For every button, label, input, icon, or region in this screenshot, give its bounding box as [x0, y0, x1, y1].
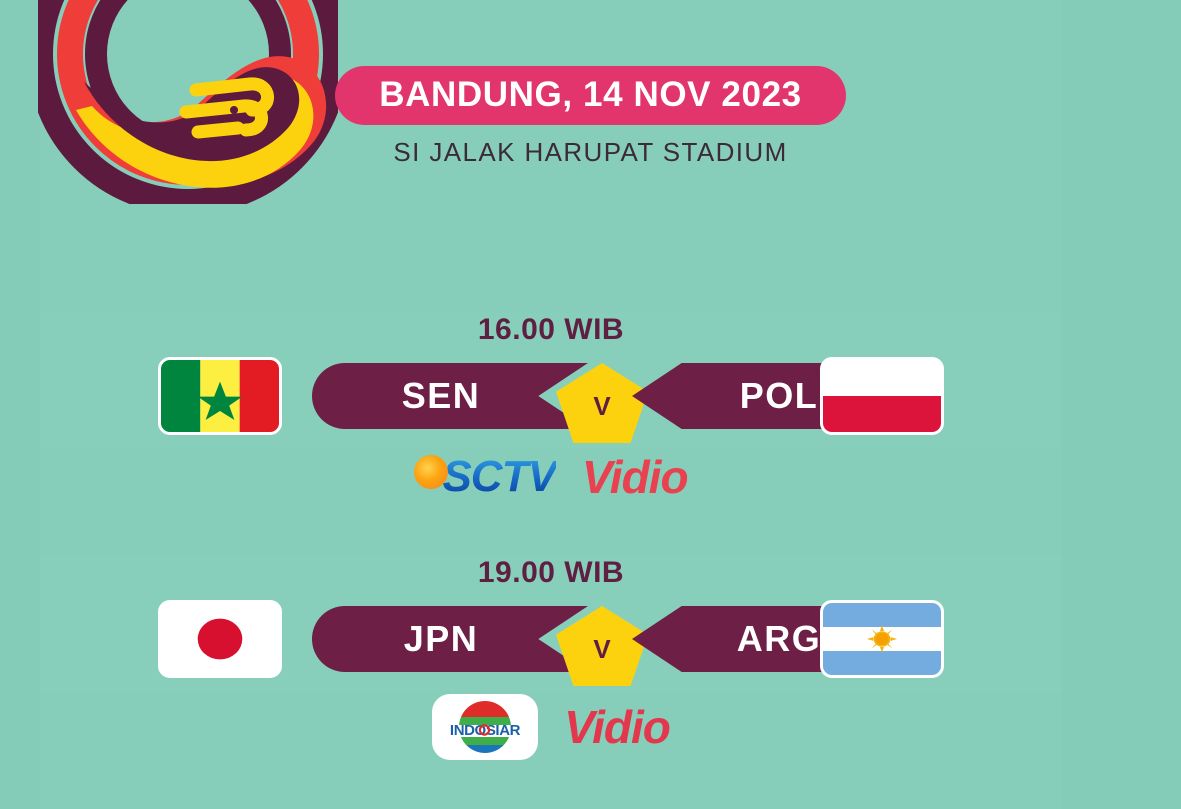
poster-header: BANDUNG, 14 NOV 2023 SI JALAK HARUPAT ST… — [0, 66, 1181, 168]
away-team-code-1: POL — [740, 378, 819, 414]
vidio-logo-icon: Vidio — [582, 454, 688, 500]
match-row-1: SEN V POL — [40, 349, 1062, 445]
japan-flag-icon — [158, 600, 282, 678]
indosiar-logo-icon: INDOSIAR — [432, 694, 538, 760]
match-row-2: JPN V ARG — [40, 592, 1062, 688]
home-team-code-1: SEN — [402, 378, 481, 414]
home-team-bar-2: JPN — [312, 606, 588, 672]
broadcaster-list-1: SCTV Vidio — [40, 453, 1062, 501]
versus-badge-1: V — [556, 363, 648, 443]
home-team-bar-1: SEN — [312, 363, 588, 429]
venue-name: SI JALAK HARUPAT STADIUM — [0, 137, 1181, 168]
versus-label-2: V — [556, 606, 648, 686]
sctv-wordmark: SCTV — [442, 455, 555, 499]
away-team-code-2: ARG — [737, 621, 822, 657]
vidio-logo-icon: Vidio — [564, 704, 670, 750]
sctv-logo-icon: SCTV — [414, 453, 555, 501]
match-card-2: 19.00 WIB JPN V ARG — [40, 556, 1062, 691]
poland-flag-icon — [820, 357, 944, 435]
versus-label-1: V — [556, 363, 648, 443]
senegal-flag-icon — [158, 357, 282, 435]
home-team-code-2: JPN — [404, 621, 479, 657]
match-schedule-poster: BANDUNG, 14 NOV 2023 SI JALAK HARUPAT ST… — [0, 0, 1181, 809]
city-date-badge: BANDUNG, 14 NOV 2023 — [335, 66, 845, 125]
argentina-flag-icon — [820, 600, 944, 678]
kickoff-time-2: 19.00 WIB — [40, 556, 1062, 590]
kickoff-time-1: 16.00 WIB — [40, 313, 1062, 347]
versus-badge-2: V — [556, 606, 648, 686]
match-card-1: 16.00 WIB SEN V POL — [40, 313, 1062, 448]
broadcaster-list-2: INDOSIAR Vidio — [40, 694, 1062, 760]
